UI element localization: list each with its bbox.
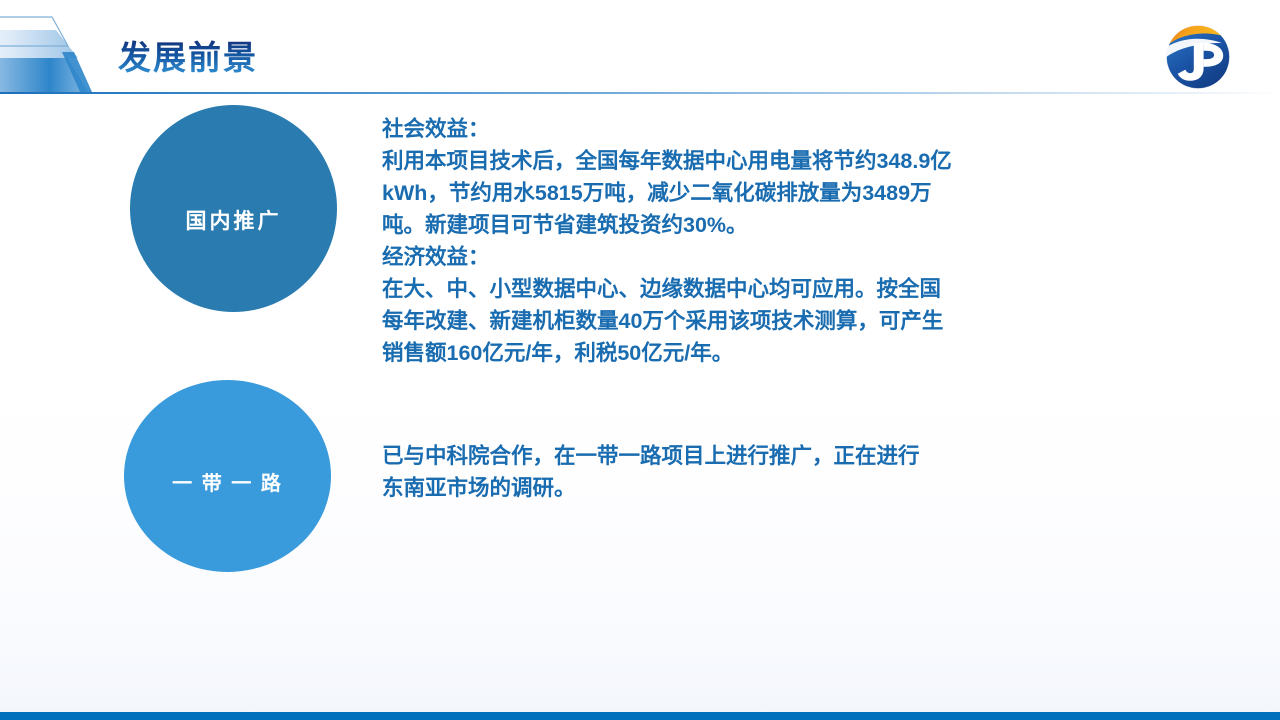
page-title: 发展前景 bbox=[118, 36, 258, 80]
content-line: 东南亚市场的调研。 bbox=[382, 472, 1054, 504]
content-line: 每年改建、新建机柜数量40万个采用该项技术测算，可产生 bbox=[382, 305, 1054, 337]
content-line: 在大、中、小型数据中心、边缘数据中心均可应用。按全国 bbox=[382, 273, 1054, 305]
content-line: 销售额160亿元/年，利税50亿元/年。 bbox=[382, 337, 1054, 369]
content-line: 社会效益： bbox=[382, 113, 1054, 145]
bubble-label: 一 带 一 路 bbox=[172, 467, 283, 496]
content-block-domestic: 社会效益： 利用本项目技术后，全国每年数据中心用电量将节约348.9亿 kWh，… bbox=[382, 113, 1054, 369]
slide-canvas: 发展前景 bbox=[0, 0, 1280, 720]
content-line: kWh，节约用水5815万吨，减少二氧化碳排放量为3489万 bbox=[382, 177, 1054, 209]
content-line: 经济效益： bbox=[382, 241, 1054, 273]
bubble-domestic-promotion[interactable]: 国内推广 bbox=[130, 105, 337, 312]
bubble-belt-and-road[interactable]: 一 带 一 路 bbox=[124, 380, 331, 572]
footer-accent-bar bbox=[0, 712, 1280, 720]
content-block-belt-and-road: 已与中科院合作，在一带一路项目上进行推广，正在进行 东南亚市场的调研。 bbox=[382, 440, 1054, 504]
bubble-label: 国内推广 bbox=[186, 205, 282, 235]
slide-header: 发展前景 bbox=[0, 0, 1280, 95]
header-divider-line bbox=[0, 92, 1280, 94]
content-line: 已与中科院合作，在一带一路项目上进行推广，正在进行 bbox=[382, 440, 1054, 472]
content-line: 利用本项目技术后，全国每年数据中心用电量将节约348.9亿 bbox=[382, 145, 1054, 177]
content-line: 吨。新建项目可节省建筑投资约30%。 bbox=[382, 209, 1054, 241]
company-logo-icon bbox=[1163, 22, 1233, 92]
